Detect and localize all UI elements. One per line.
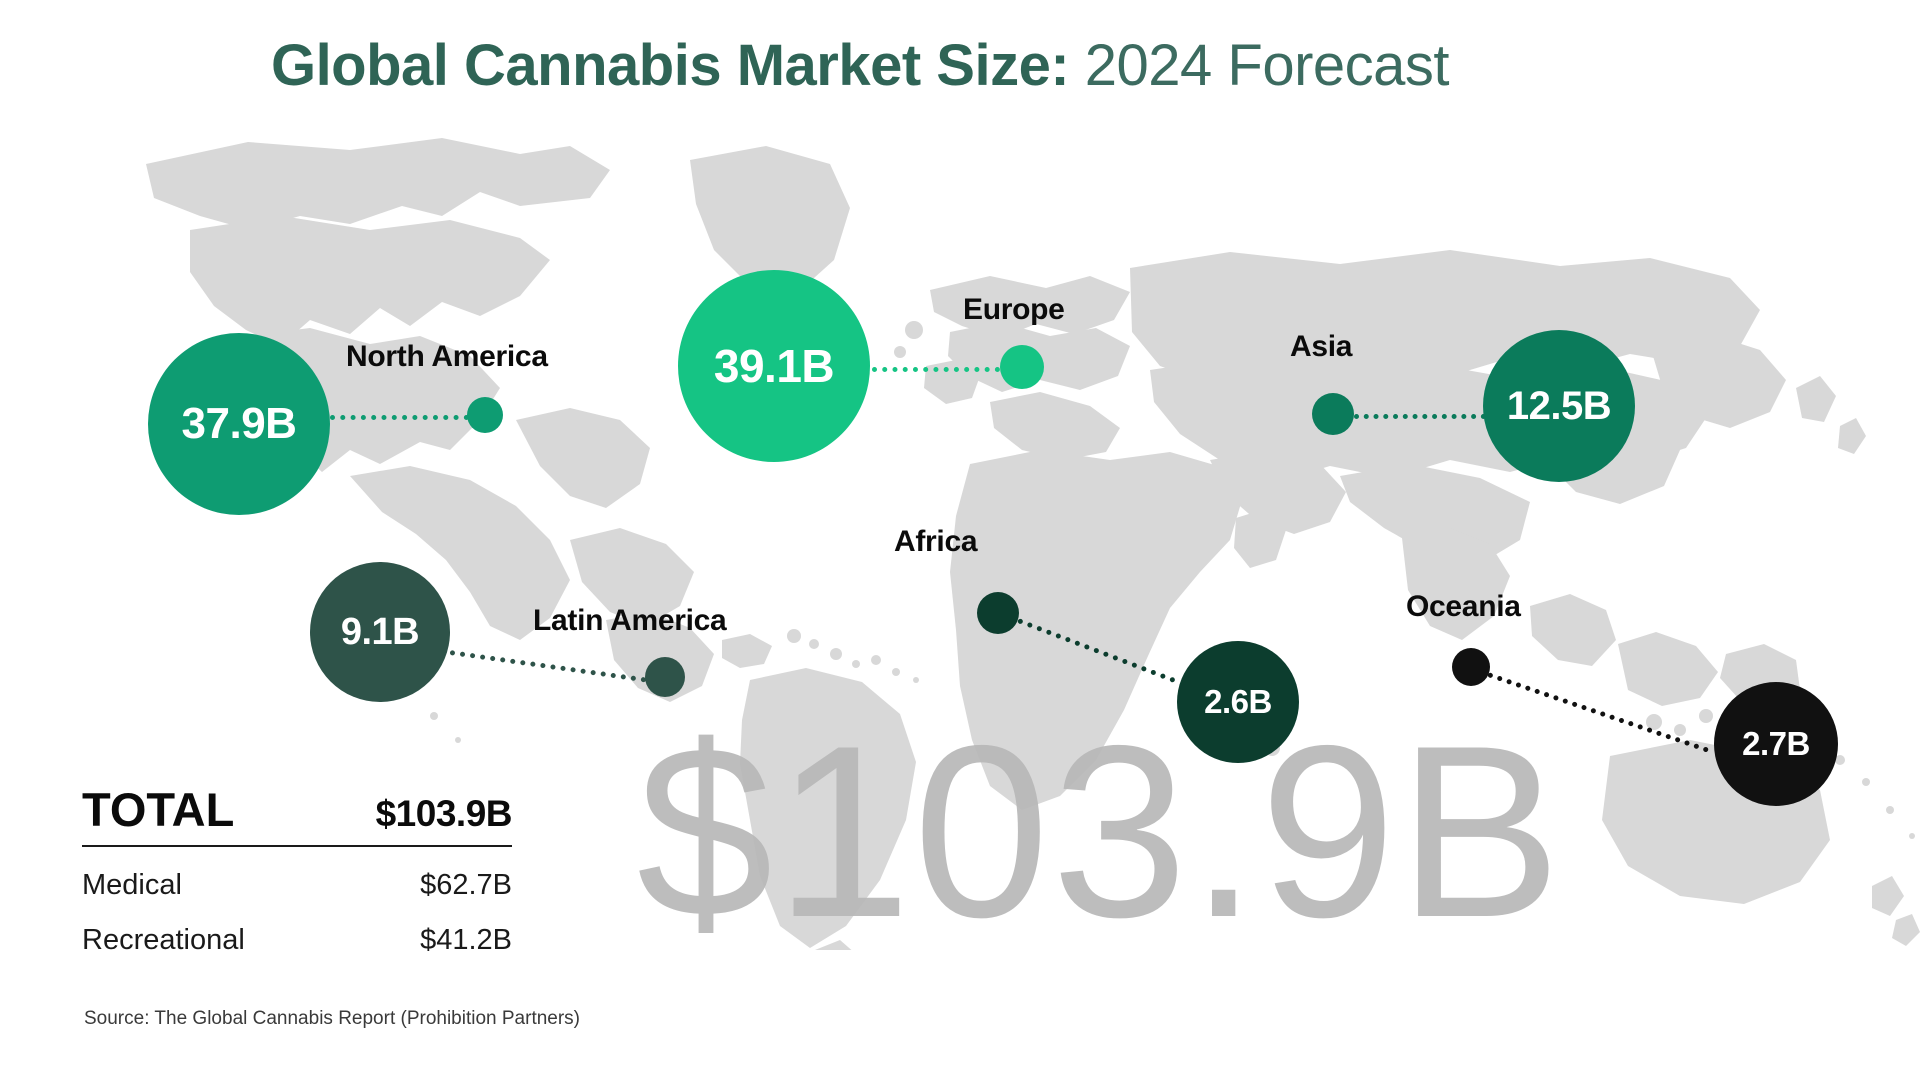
legend-row-label: Recreational [82,924,245,957]
region-label-latin-america: Latin America [533,604,726,638]
region-label-africa: Africa [894,525,977,559]
region-label-europe: Europe [963,293,1065,327]
map-marker-north-america[interactable] [467,397,503,433]
map-marker-oceania[interactable] [1452,648,1490,686]
infographic-root: Global Cannabis Market Size: 2024 Foreca… [0,0,1920,1080]
bubble-asia[interactable]: 12.5B [1483,330,1635,482]
bubble-value-oceania: 2.7B [1742,725,1810,763]
connector-line-latin-america [450,650,647,683]
bubble-value-latin-america: 9.1B [341,611,419,654]
bubble-value-north-america: 37.9B [182,399,297,449]
page-title: Global Cannabis Market Size: 2024 Foreca… [0,34,1720,98]
legend-row-value: $62.7B [420,869,512,902]
legend-divider [82,845,512,847]
bubble-value-europe: 39.1B [714,339,834,393]
total-watermark: $103.9B [600,690,1600,972]
totals-legend: TOTAL $103.9B Medical$62.7BRecreational$… [82,782,512,957]
bubble-value-asia: 12.5B [1507,384,1611,429]
bubble-value-africa: 2.6B [1204,683,1272,721]
total-label: TOTAL [82,782,234,837]
bubble-europe[interactable]: 39.1B [678,270,870,462]
legend-rows: Medical$62.7BRecreational$41.2B [82,869,512,957]
connector-line-asia [1354,414,1486,419]
map-marker-asia[interactable] [1312,393,1354,435]
region-label-asia: Asia [1290,330,1352,364]
total-value: $103.9B [376,793,512,835]
legend-row-label: Medical [82,869,182,902]
map-marker-latin-america[interactable] [645,657,685,697]
legend-row-value: $41.2B [420,924,512,957]
bubble-africa[interactable]: 2.6B [1177,641,1299,763]
region-label-north-america: North America [346,340,548,374]
source-note: Source: The Global Cannabis Report (Proh… [84,1008,580,1030]
connector-line-north-america [330,415,469,420]
title-light-part: 2024 Forecast [1069,33,1449,98]
map-marker-africa[interactable] [977,592,1019,634]
connector-line-africa [1017,618,1176,683]
total-row: TOTAL $103.9B [82,782,512,845]
bubble-north-america[interactable]: 37.9B [148,333,330,515]
title-bold-part: Global Cannabis Market Size: [271,33,1069,98]
region-label-oceania: Oceania [1406,590,1521,624]
map-marker-europe[interactable] [1000,345,1044,389]
legend-row: Recreational$41.2B [82,924,512,957]
legend-row: Medical$62.7B [82,869,512,902]
bubble-latin-america[interactable]: 9.1B [310,562,450,702]
connector-line-europe [872,367,1000,372]
bubble-oceania[interactable]: 2.7B [1714,682,1838,806]
